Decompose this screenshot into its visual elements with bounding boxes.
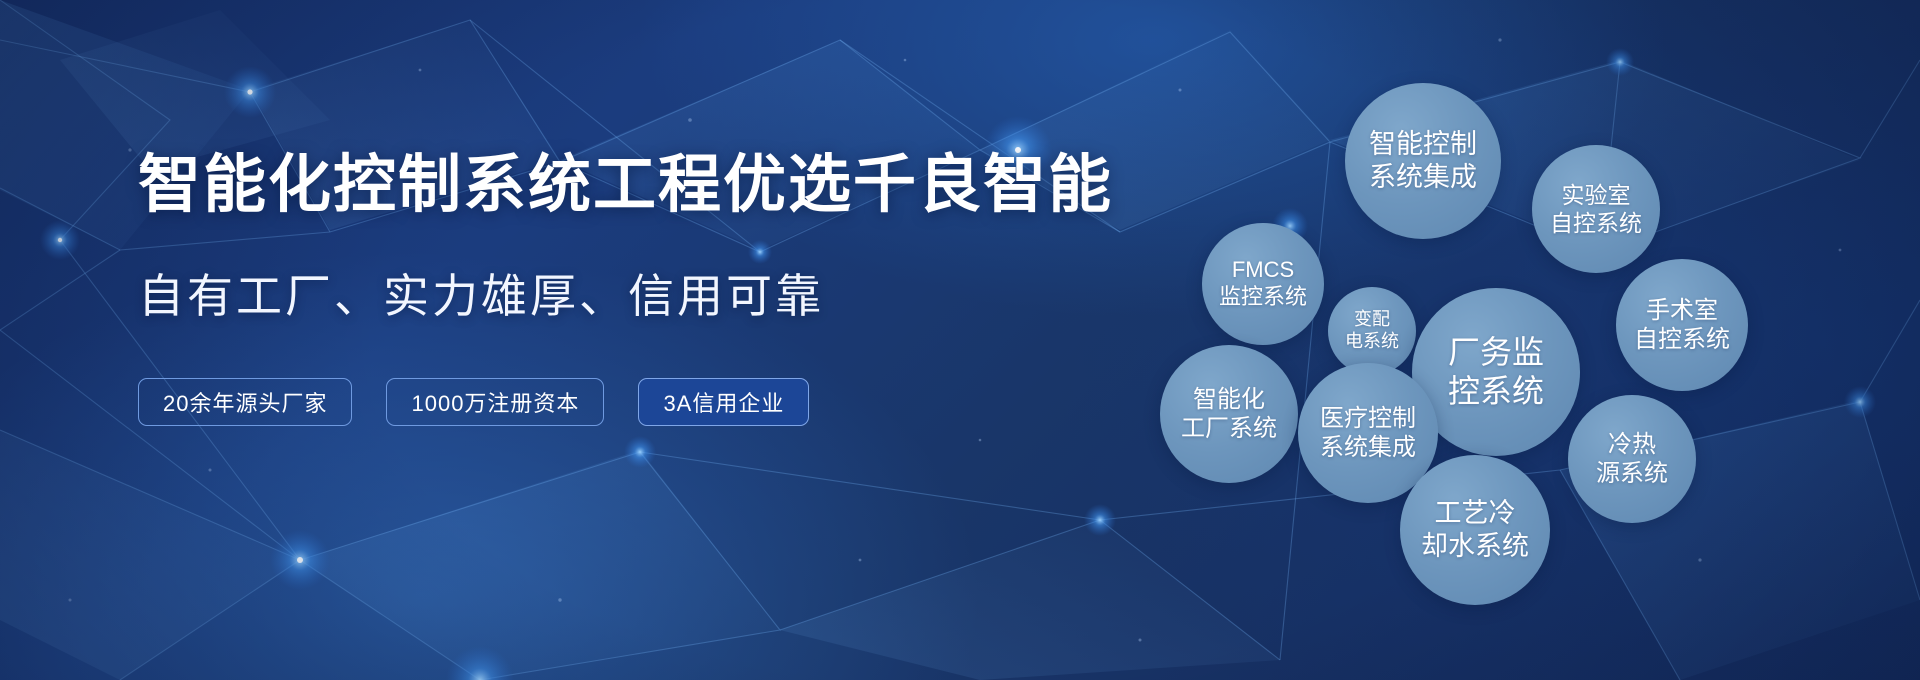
bubble-laboratory-automatic-control-system[interactable]: 实验室自控系统 bbox=[1532, 145, 1660, 273]
badge-1[interactable]: 20余年源头厂家 bbox=[138, 378, 352, 426]
bubble-label-line: 系统集成 bbox=[1320, 433, 1416, 462]
bubble-label-line: 变配 bbox=[1345, 309, 1399, 331]
bubble-label: 智能控制系统集成 bbox=[1369, 128, 1477, 194]
hero-copy: 智能化控制系统工程优选千良智能 自有工厂、实力雄厚、信用可靠 20余年源头厂家1… bbox=[138, 150, 1138, 426]
bubble-label-line: FMCS bbox=[1219, 257, 1307, 284]
bubble-label: 手术室自控系统 bbox=[1634, 296, 1730, 355]
bubble-label: 医疗控制系统集成 bbox=[1320, 404, 1416, 463]
bubble-label-line: 智能化 bbox=[1181, 385, 1277, 414]
bubble-label-line: 工艺冷 bbox=[1421, 497, 1529, 530]
bubble-label: 冷热源系统 bbox=[1596, 430, 1668, 489]
bubble-label-line: 实验室 bbox=[1550, 181, 1642, 209]
bubble-label-line: 冷热 bbox=[1596, 430, 1668, 459]
bubble-power-distribution-system[interactable]: 变配电系统 bbox=[1328, 287, 1416, 375]
bubble-label-line: 工厂系统 bbox=[1181, 414, 1277, 443]
bubble-label-line: 控系统 bbox=[1448, 372, 1544, 411]
bubble-label: 变配电系统 bbox=[1345, 309, 1399, 353]
bubble-label-line: 源系统 bbox=[1596, 459, 1668, 488]
bubble-label: 实验室自控系统 bbox=[1550, 181, 1642, 237]
bubble-label-line: 系统集成 bbox=[1369, 161, 1477, 194]
bubble-intelligent-factory-system[interactable]: 智能化工厂系统 bbox=[1160, 345, 1298, 483]
badge-2[interactable]: 1000万注册资本 bbox=[386, 378, 604, 426]
badge-3[interactable]: 3A信用企业 bbox=[638, 378, 809, 426]
bubble-label-line: 自控系统 bbox=[1550, 209, 1642, 237]
page-title: 智能化控制系统工程优选千良智能 bbox=[138, 150, 1138, 221]
bubble-label-line: 厂务监 bbox=[1448, 333, 1544, 372]
bubble-label: 厂务监控系统 bbox=[1448, 333, 1544, 411]
bubble-label-line: 医疗控制 bbox=[1320, 404, 1416, 433]
bubble-label: 工艺冷却水系统 bbox=[1421, 497, 1529, 563]
bubble-operating-room-automatic-control[interactable]: 手术室自控系统 bbox=[1616, 259, 1748, 391]
bubble-cold-heat-source-system[interactable]: 冷热源系统 bbox=[1568, 395, 1696, 523]
bubble-label-line: 电系统 bbox=[1345, 331, 1399, 353]
bubble-label-line: 手术室 bbox=[1634, 296, 1730, 325]
hero-banner: 智能化控制系统工程优选千良智能 自有工厂、实力雄厚、信用可靠 20余年源头厂家1… bbox=[0, 0, 1920, 680]
bubble-intelligent-control-system-integration[interactable]: 智能控制系统集成 bbox=[1345, 83, 1501, 239]
bubble-label: FMCS监控系统 bbox=[1219, 257, 1307, 311]
bubble-process-cooling-water-system[interactable]: 工艺冷却水系统 bbox=[1400, 455, 1550, 605]
service-bubble-cluster: 智能控制系统集成实验室自控系统FMCS监控系统变配电系统手术室自控系统厂务监控系… bbox=[1150, 55, 1810, 615]
bubble-label-line: 自控系统 bbox=[1634, 325, 1730, 354]
bubble-label-line: 却水系统 bbox=[1421, 530, 1529, 563]
badge-list: 20余年源头厂家1000万注册资本3A信用企业 bbox=[138, 378, 1138, 426]
bubble-fmcs-monitoring-system[interactable]: FMCS监控系统 bbox=[1202, 223, 1324, 345]
bubble-label-line: 智能控制 bbox=[1369, 128, 1477, 161]
bubble-label: 智能化工厂系统 bbox=[1181, 385, 1277, 444]
bubble-label-line: 监控系统 bbox=[1219, 284, 1307, 311]
page-subtitle: 自有工厂、实力雄厚、信用可靠 bbox=[138, 269, 1138, 324]
